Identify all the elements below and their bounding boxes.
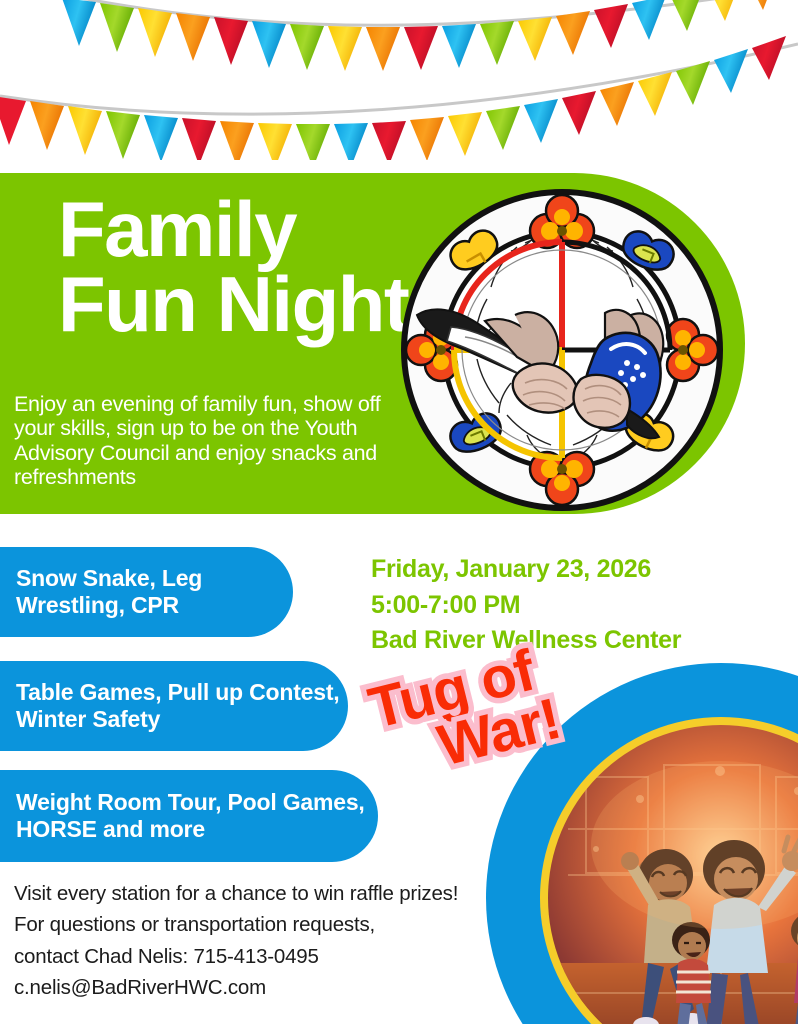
- contact-line-questions: For questions or transportation requests…: [14, 909, 534, 940]
- tribal-medicine-wheel-medallion-icon: [399, 187, 725, 513]
- activity-pill-3: Weight Room Tour, Pool Games, HORSE and …: [0, 770, 378, 862]
- activity-pill-1: Snow Snake, Leg Wrestling, CPR: [0, 547, 293, 637]
- event-time: 5:00-7:00 PM: [371, 588, 681, 624]
- contact-line-email: c.nelis@BadRiverHWC.com: [14, 972, 534, 1003]
- contact-line-phone: contact Chad Nelis: 715-413-0495: [14, 941, 534, 972]
- subtitle-text: Enjoy an evening of family fun, show off…: [14, 392, 414, 489]
- event-date: Friday, January 23, 2026: [371, 552, 681, 588]
- page-title: Family Fun Night: [58, 192, 458, 342]
- activity-pill-2: Table Games, Pull up Contest, Winter Saf…: [0, 661, 348, 751]
- cheering-children-illustration: [548, 725, 798, 1024]
- title-line-2: Fun Night: [58, 267, 458, 342]
- flyer-page: Family Fun Night Enjoy an evening of fam…: [0, 0, 798, 1024]
- contact-line-raffle: Visit every station for a chance to win …: [14, 878, 534, 909]
- party-bunting-flags-icon: [0, 0, 798, 160]
- title-line-1: Family: [58, 192, 458, 267]
- contact-info: Visit every station for a chance to win …: [14, 878, 534, 1003]
